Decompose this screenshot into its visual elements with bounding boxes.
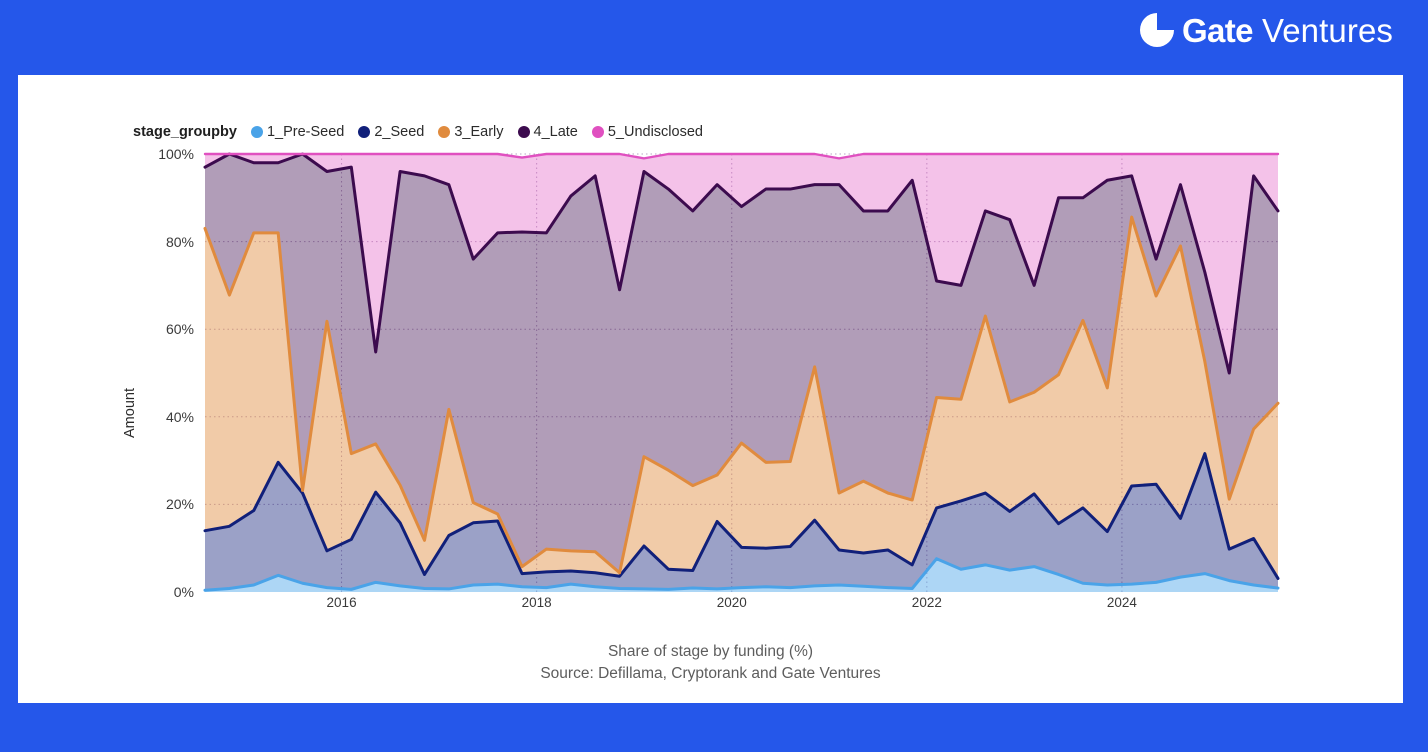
- caption-line-source: Source: Defillama, Cryptorank and Gate V…: [18, 663, 1403, 685]
- chart-card: stage_groupby 1_Pre-Seed 2_Seed 3_Early …: [18, 75, 1403, 703]
- brand-logo: Gate Ventures: [1137, 8, 1393, 52]
- caption-line-title: Share of stage by funding (%): [18, 641, 1403, 663]
- stacked-area-chart: [18, 75, 1403, 703]
- page-header: Gate Ventures: [0, 0, 1428, 75]
- chart-plot-area: Amount 0%20%40%60%80%100% 20162018202020…: [18, 75, 1403, 703]
- chart-caption: Share of stage by funding (%) Source: De…: [18, 641, 1403, 685]
- brand-name-gate: Gate: [1182, 14, 1253, 47]
- brand-name-ventures: Ventures: [1262, 14, 1393, 47]
- gate-logo-icon: [1137, 10, 1177, 50]
